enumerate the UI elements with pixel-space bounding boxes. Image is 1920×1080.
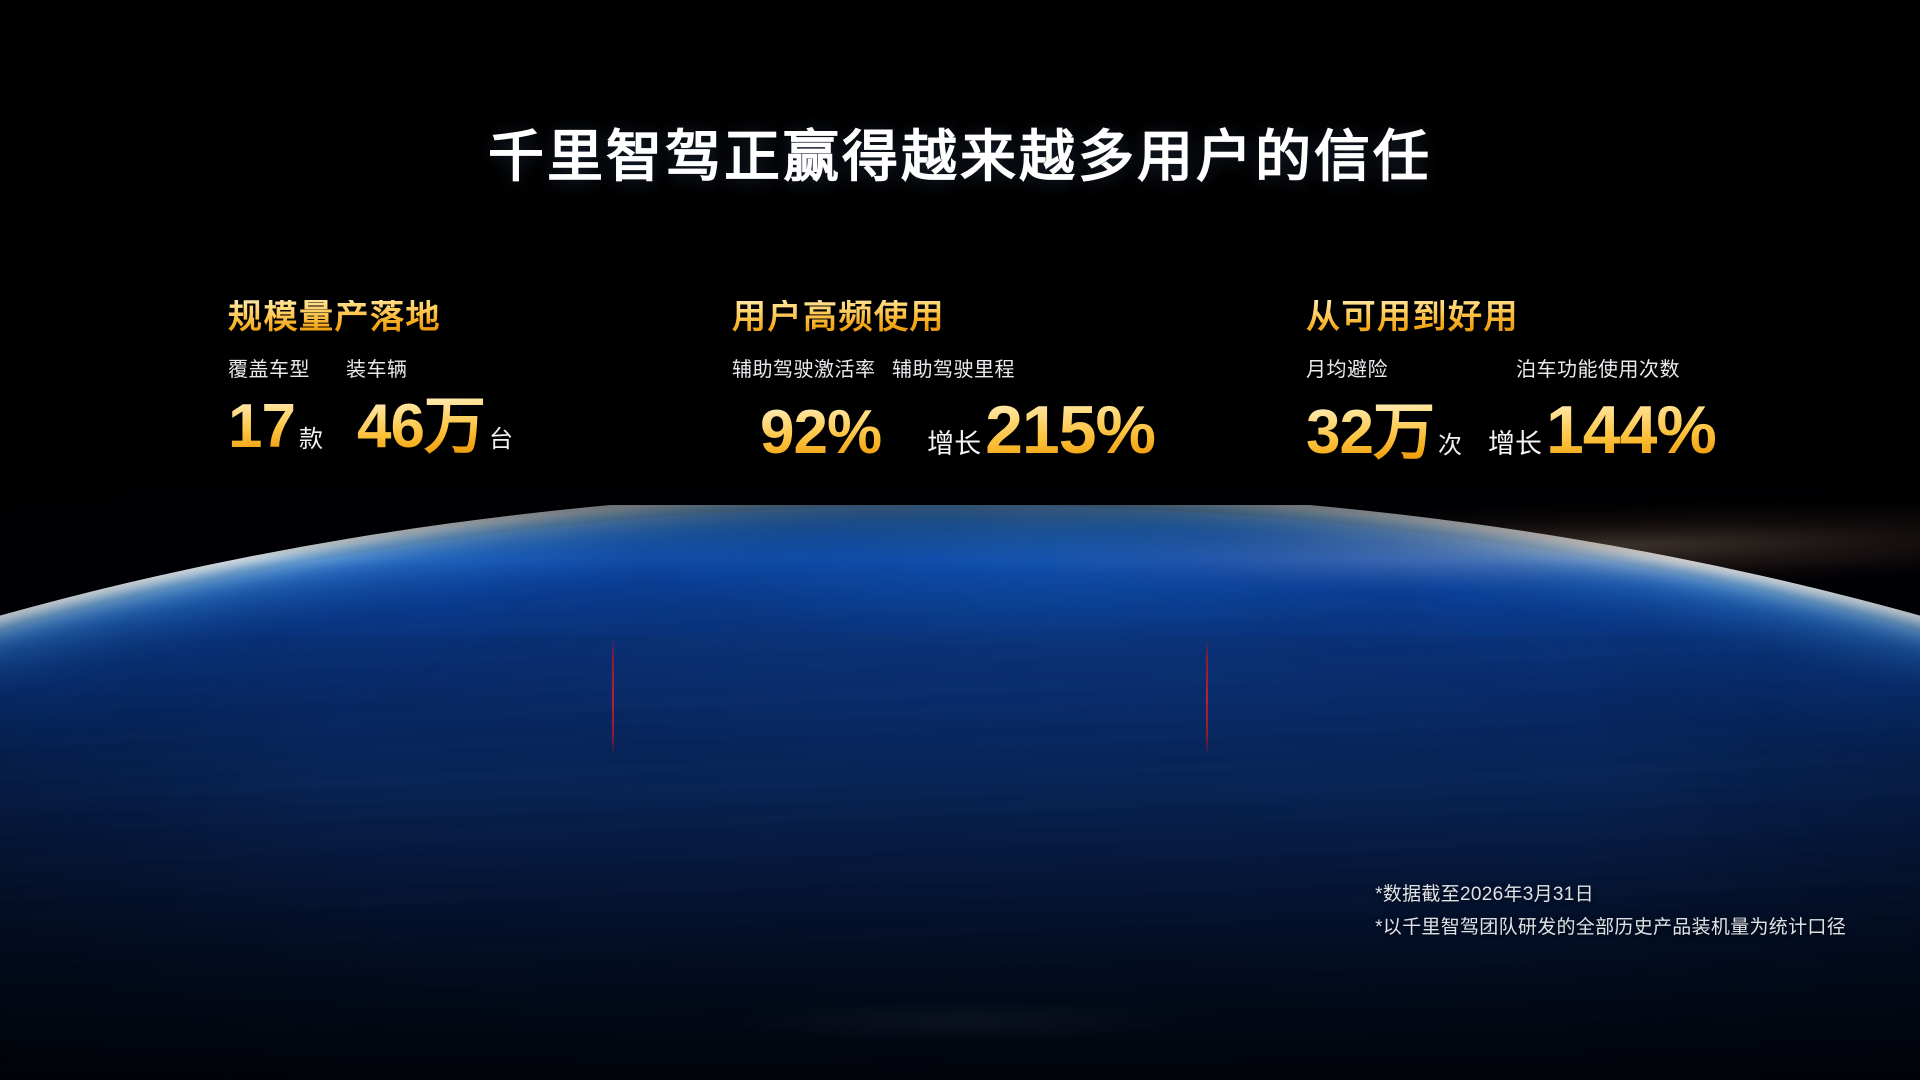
metric-value: 144%: [1546, 396, 1716, 464]
footnote-line: *以千里智驾团队研发的全部历史产品装机量为统计口径: [1375, 911, 1846, 944]
metric-value: 215%: [985, 396, 1155, 464]
column-heading: 从可用到好用: [1306, 300, 1519, 334]
stat-column-user-frequency: 用户高频使用 辅助驾驶激活率 辅助驾驶里程 92% 增长 215%: [732, 300, 1252, 464]
column-divider: [1206, 638, 1208, 756]
metric-label: 泊车功能使用次数: [1516, 360, 1680, 380]
metric-value-row: 17 款 46万 台: [228, 396, 648, 458]
footnotes: *数据截至2026年3月31日 *以千里智驾团队研发的全部历史产品装机量为统计口…: [1375, 878, 1846, 945]
stat-column-usability: 从可用到好用 月均避险 泊车功能使用次数 32万 次 增长 144%: [1306, 300, 1866, 464]
footnote-line: *数据截至2026年3月31日: [1375, 878, 1846, 911]
metric-value-row: 32万 次 增长 144%: [1306, 396, 1866, 464]
metric-unit: 台: [489, 428, 513, 452]
metric-value: 92%: [760, 402, 881, 464]
metric-label-row: 月均避险 泊车功能使用次数: [1306, 360, 1866, 380]
metric-unit: 款: [299, 428, 323, 452]
metric-label: 辅助驾驶激活率: [732, 360, 892, 380]
metric-label: 装车辆: [346, 360, 408, 380]
metric-unit: 次: [1438, 434, 1462, 458]
metric-value: 46万: [357, 396, 485, 458]
metric-label: 月均避险: [1306, 360, 1516, 380]
stats-row: 规模量产落地 覆盖车型 装车辆 17 款 46万 台 用户高频使用 辅助驾驶激活…: [0, 300, 1920, 500]
metric-label: 辅助驾驶里程: [892, 360, 1015, 380]
metric-value: 32万: [1306, 402, 1434, 464]
metric-label-row: 覆盖车型 装车辆: [228, 360, 648, 380]
metric-label-row: 辅助驾驶激活率 辅助驾驶里程: [732, 360, 1252, 380]
stat-column-scale-production: 规模量产落地 覆盖车型 装车辆 17 款 46万 台: [228, 300, 648, 458]
metric-value: 17: [228, 396, 295, 458]
slide-content: 千里智驾正赢得越来越多用户的信任 规模量产落地 覆盖车型 装车辆 17 款 46…: [0, 0, 1920, 1080]
metric-label: 覆盖车型: [228, 360, 346, 380]
metric-prefix: 增长: [1488, 431, 1542, 458]
metric-value-row: 92% 增长 215%: [732, 396, 1252, 464]
column-divider: [612, 638, 614, 756]
column-heading: 用户高频使用: [732, 300, 945, 334]
presentation-slide: 千里智驾正赢得越来越多用户的信任 规模量产落地 覆盖车型 装车辆 17 款 46…: [0, 0, 1920, 1080]
metric-prefix: 增长: [927, 431, 981, 458]
page-title: 千里智驾正赢得越来越多用户的信任: [0, 126, 1920, 188]
column-heading: 规模量产落地: [228, 300, 441, 334]
